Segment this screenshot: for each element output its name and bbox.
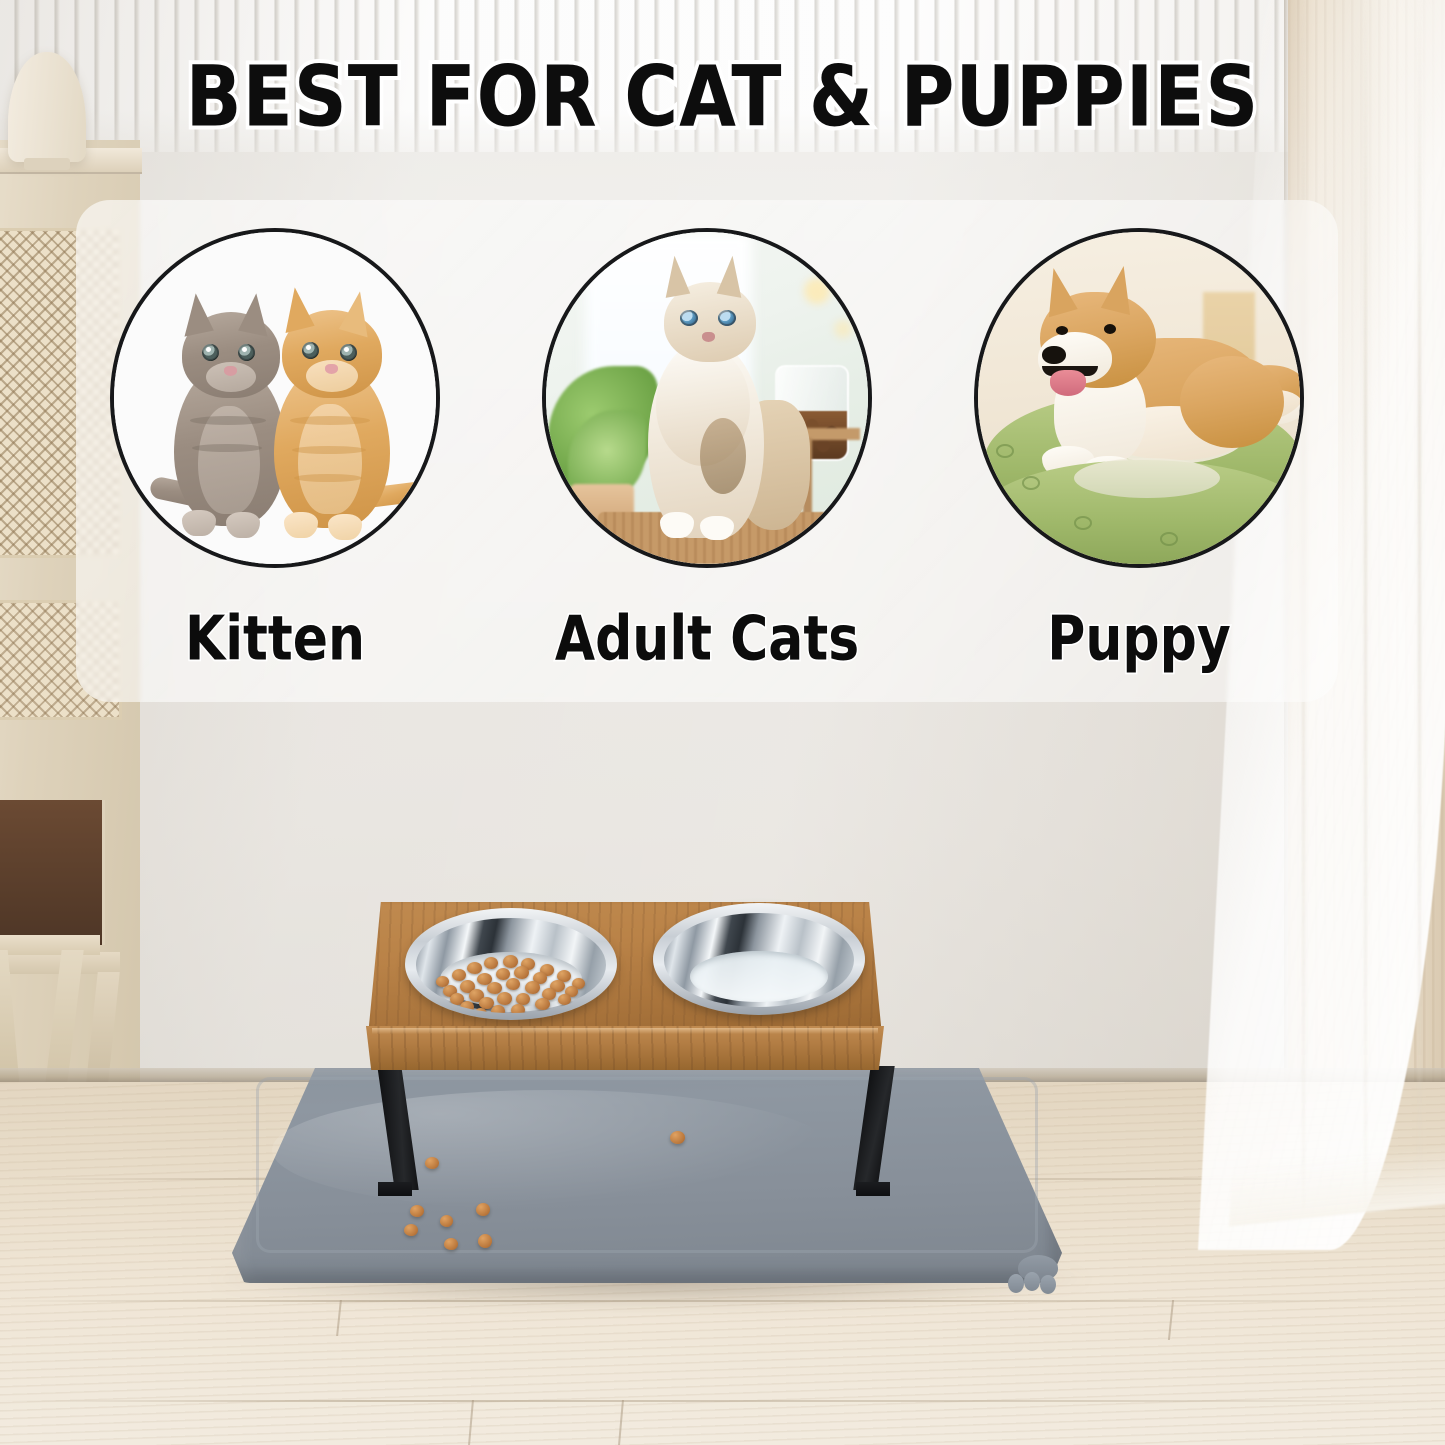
spilled-kibble-8 (478, 1234, 492, 1248)
food-bowl[interactable] (405, 908, 617, 1020)
spilled-kibble-4 (404, 1224, 418, 1236)
spilled-kibble-1 (670, 1131, 685, 1144)
spilled-kibble-2 (425, 1157, 439, 1169)
paw-toe-1 (1008, 1274, 1024, 1293)
stand-foot-left (378, 1182, 412, 1196)
spilled-kibble-6 (444, 1238, 458, 1250)
water-surface (690, 951, 827, 1002)
wooden-stand-edge-highlight (372, 1028, 878, 1034)
paw-toe-3 (1040, 1275, 1056, 1294)
water-bowl[interactable] (653, 903, 865, 1015)
mat-highlight (272, 1090, 832, 1210)
stand-foot-right (856, 1182, 890, 1196)
spilled-kibble-5 (440, 1215, 453, 1227)
spilled-kibble-3 (410, 1205, 424, 1217)
paw-print-corner-tab (994, 1251, 1066, 1295)
water-bowl-interior (664, 913, 855, 1007)
kibble-pile (426, 946, 596, 1013)
spilled-kibble-7 (476, 1203, 490, 1216)
pet-feeder-product (0, 0, 1445, 1445)
silicone-feeding-mat[interactable] (232, 1068, 1062, 1283)
paw-toe-2 (1024, 1272, 1040, 1291)
